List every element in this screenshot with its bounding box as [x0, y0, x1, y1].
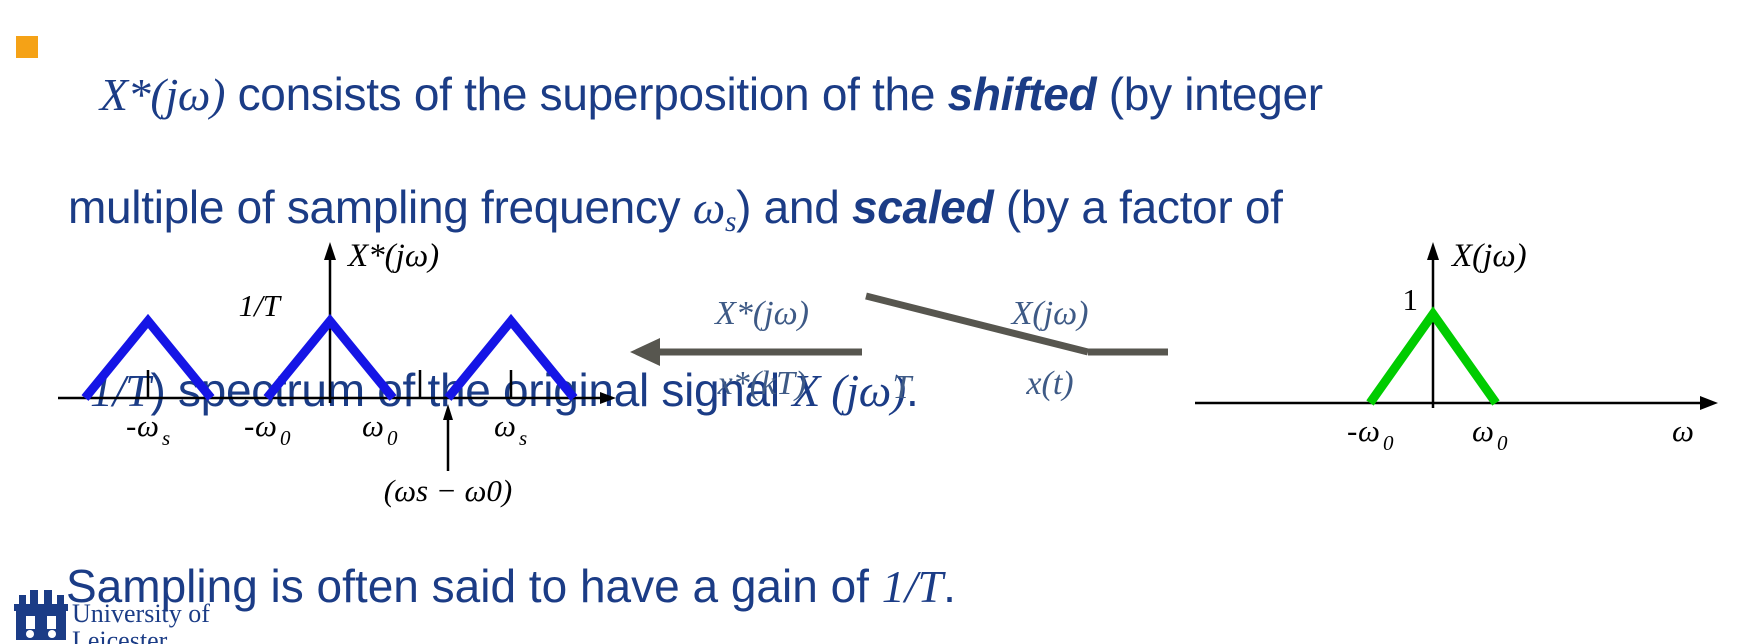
bullet-line1-text-b: (by integer	[1096, 68, 1323, 120]
xtick-omega-s-sub: s	[519, 426, 527, 450]
left-chart-xtick-omega-0: ω 0	[362, 408, 398, 450]
right-chart-xtick-minus-omega-0: - ω 0	[1347, 413, 1394, 455]
xtick-minus-omega-s-sub: s	[162, 426, 170, 450]
castle-crest-icon	[14, 590, 68, 642]
block-diagram-left-arrow-top-label: X*(jω)	[713, 295, 809, 332]
xtick-minus-omega-0-omega: ω	[255, 408, 277, 443]
chart-sampled-spectrum: X*(jω) 1/T - ω s - ω 0 ω 0 ω s (ωs − ω0)	[58, 238, 616, 508]
bottom-statement-period: .	[943, 560, 956, 612]
left-chart-x-axis-arrowhead	[600, 392, 616, 404]
left-chart-xtick-omega-s: ω s	[494, 408, 527, 450]
university-logo: University of Leicester	[14, 588, 244, 644]
xtick-minus-omega-s-prefix: -	[126, 408, 136, 443]
left-chart-annotation-arrowhead	[443, 404, 453, 420]
block-diagram: X*(jω) x*(kT) T X(jω) x(t)	[630, 295, 1168, 406]
left-chart-title: X*(jω)	[346, 238, 439, 274]
xtick-right-omega-0-omega: ω	[1472, 413, 1494, 448]
logo-wordmark: University of Leicester	[72, 600, 210, 644]
bullet-line2-text-a: multiple of sampling frequency	[68, 181, 693, 233]
right-chart-y-axis-arrowhead	[1427, 242, 1439, 260]
left-chart-y-axis-arrowhead	[324, 242, 336, 260]
right-chart-x-axis-label: ω	[1672, 413, 1694, 448]
right-chart-peak-label: 1	[1403, 282, 1419, 317]
xtick-right-minus-omega-0-prefix: -	[1347, 413, 1357, 448]
xtick-right-omega-0-sub: 0	[1497, 431, 1508, 455]
bullet-line2-omega: ω	[693, 182, 725, 233]
block-diagram-left-arrow-head	[630, 338, 660, 366]
bullet-line1-emphasis: shifted	[948, 68, 1097, 120]
right-chart-xtick-omega-0: ω 0	[1472, 413, 1508, 455]
xtick-omega-s-omega: ω	[494, 408, 516, 443]
bullet-line2-emphasis: scaled	[852, 181, 993, 233]
xtick-minus-omega-0-prefix: -	[244, 408, 254, 443]
xtick-omega-0-sub: 0	[387, 426, 398, 450]
bullet-marker-icon	[16, 36, 38, 58]
logo-line-2: Leicester	[72, 627, 210, 644]
left-chart-peak-label: 1/T	[239, 288, 283, 323]
xtick-minus-omega-s-omega: ω	[137, 408, 159, 443]
xtick-right-minus-omega-0-sub: 0	[1383, 431, 1394, 455]
chart-original-spectrum: X(jω) 1 - ω 0 ω 0 ω	[1195, 238, 1718, 455]
bullet-line1-text-a: consists of the superposition of the	[225, 68, 947, 120]
sampler-period-label: T	[893, 369, 914, 406]
bottom-statement-math: 1/T	[882, 561, 943, 612]
logo-line-1: University of	[72, 600, 210, 627]
left-chart-xtick-minus-omega-s: - ω s	[126, 408, 170, 450]
bullet-line2-text-c: (by a factor of	[993, 181, 1282, 233]
block-diagram-right-arrow-bottom-label: x(t)	[1025, 365, 1073, 402]
left-chart-xtick-minus-omega-0: - ω 0	[244, 408, 291, 450]
xtick-minus-omega-0-sub: 0	[280, 426, 291, 450]
right-chart-x-axis-arrowhead	[1700, 396, 1718, 410]
sampling-figure: X*(jω) 1/T - ω s - ω 0 ω 0 ω s (ωs − ω0)…	[0, 228, 1750, 528]
xtick-omega-0-omega: ω	[362, 408, 384, 443]
bullet-line2-text-b: ) and	[736, 181, 852, 233]
bullet-line1-math: X*(jω)	[100, 69, 225, 120]
xtick-right-minus-omega-0-omega: ω	[1358, 413, 1380, 448]
right-chart-title: X(jω)	[1450, 238, 1527, 274]
block-diagram-right-arrow-top-label: X(jω)	[1010, 295, 1089, 332]
block-diagram-left-arrow-bottom-label: x*(kT)	[717, 365, 807, 402]
left-chart-annotation-label: (ωs − ω0)	[384, 473, 512, 508]
